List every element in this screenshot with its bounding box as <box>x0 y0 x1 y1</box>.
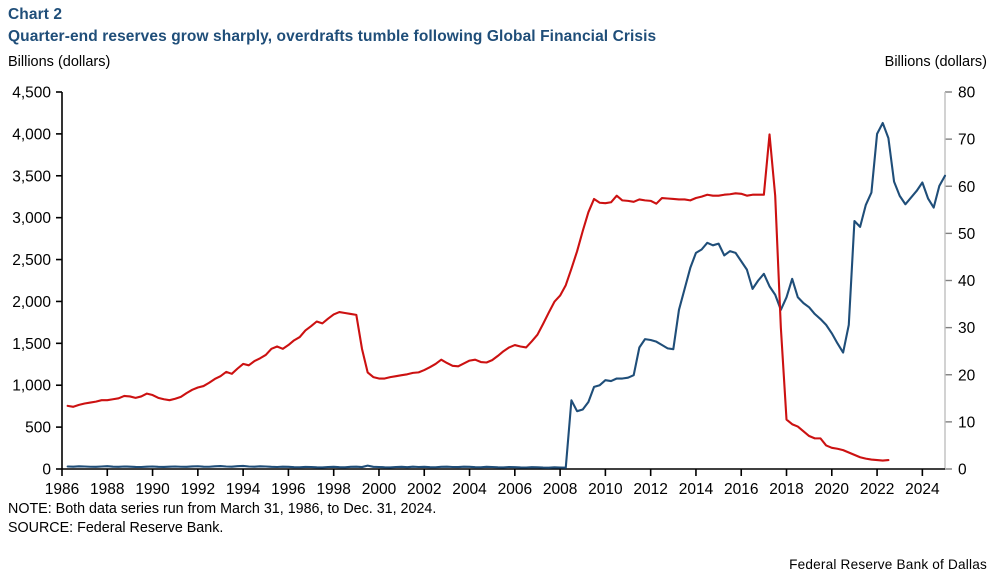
left-tick-label: 3,000 <box>12 210 51 227</box>
x-tick-label: 2004 <box>452 481 487 498</box>
x-tick-label: 1988 <box>90 481 124 498</box>
right-tick-label: 0 <box>958 462 967 479</box>
note-text: NOTE: Both data series run from March 31… <box>8 500 436 519</box>
x-tick-label: 1990 <box>135 481 170 498</box>
left-axis-unit-label: Billions (dollars) <box>8 54 110 70</box>
right-tick-label: 60 <box>958 179 976 196</box>
x-tick-label: 2020 <box>815 481 850 498</box>
x-tick-label: 1998 <box>316 481 350 498</box>
x-tick-label: 2010 <box>588 481 623 498</box>
x-tick-label: 2014 <box>679 481 714 498</box>
chart-number: Chart 2 <box>8 6 62 24</box>
left-tick-label: 4,500 <box>12 85 51 102</box>
x-tick-label: 2012 <box>633 481 667 498</box>
x-tick-label: 1986 <box>45 481 79 498</box>
left-tick-label: 3,500 <box>12 168 51 185</box>
x-tick-label: 1994 <box>226 481 261 498</box>
left-tick-label: 4,000 <box>12 126 51 143</box>
left-axis-ticks: 05001,0001,5002,0002,5003,0003,5004,0004… <box>12 85 62 479</box>
right-tick-label: 20 <box>958 367 976 384</box>
left-tick-label: 1,500 <box>12 336 51 353</box>
left-tick-label: 2,500 <box>12 252 51 269</box>
right-tick-label: 80 <box>958 85 976 102</box>
x-tick-label: 1992 <box>181 481 215 498</box>
right-tick-label: 10 <box>958 414 976 431</box>
x-tick-label: 2022 <box>860 481 894 498</box>
right-tick-label: 30 <box>958 320 976 337</box>
left-tick-label: 2,000 <box>12 294 51 311</box>
x-tick-label: 1996 <box>271 481 305 498</box>
left-tick-label: 0 <box>42 462 51 479</box>
series-line-average-daylight-overdraft <box>68 134 889 460</box>
publisher-credit: Federal Reserve Bank of Dallas <box>789 557 987 572</box>
source-text: SOURCE: Federal Reserve Bank. <box>8 519 436 538</box>
x-tick-label: 2018 <box>769 481 803 498</box>
right-tick-label: 50 <box>958 226 976 243</box>
series-line-reserves <box>68 123 945 468</box>
chart-plot: 05001,0001,5002,0002,5003,0003,5004,0004… <box>0 72 997 500</box>
data-series-group <box>68 123 945 468</box>
x-tick-label: 2002 <box>407 481 441 498</box>
right-axis-ticks: 01020304050607080 <box>945 85 976 479</box>
page-title: Quarter-end reserves grow sharply, overd… <box>8 28 656 46</box>
x-tick-label: 2016 <box>724 481 758 498</box>
left-tick-label: 500 <box>25 420 51 437</box>
x-axis-ticks: 1986198819901992199419961998200020022004… <box>45 469 940 498</box>
x-tick-label: 2000 <box>362 481 397 498</box>
right-tick-label: 70 <box>958 132 976 149</box>
chart-page: Chart 2 Quarter-end reserves grow sharpl… <box>0 0 997 583</box>
left-tick-label: 1,000 <box>12 378 51 395</box>
x-tick-label: 2008 <box>543 481 577 498</box>
footnotes: NOTE: Both data series run from March 31… <box>8 500 436 538</box>
x-tick-label: 2024 <box>905 481 940 498</box>
right-axis-unit-label: Billions (dollars) <box>885 54 987 70</box>
right-tick-label: 40 <box>958 273 976 290</box>
x-tick-label: 2006 <box>498 481 532 498</box>
